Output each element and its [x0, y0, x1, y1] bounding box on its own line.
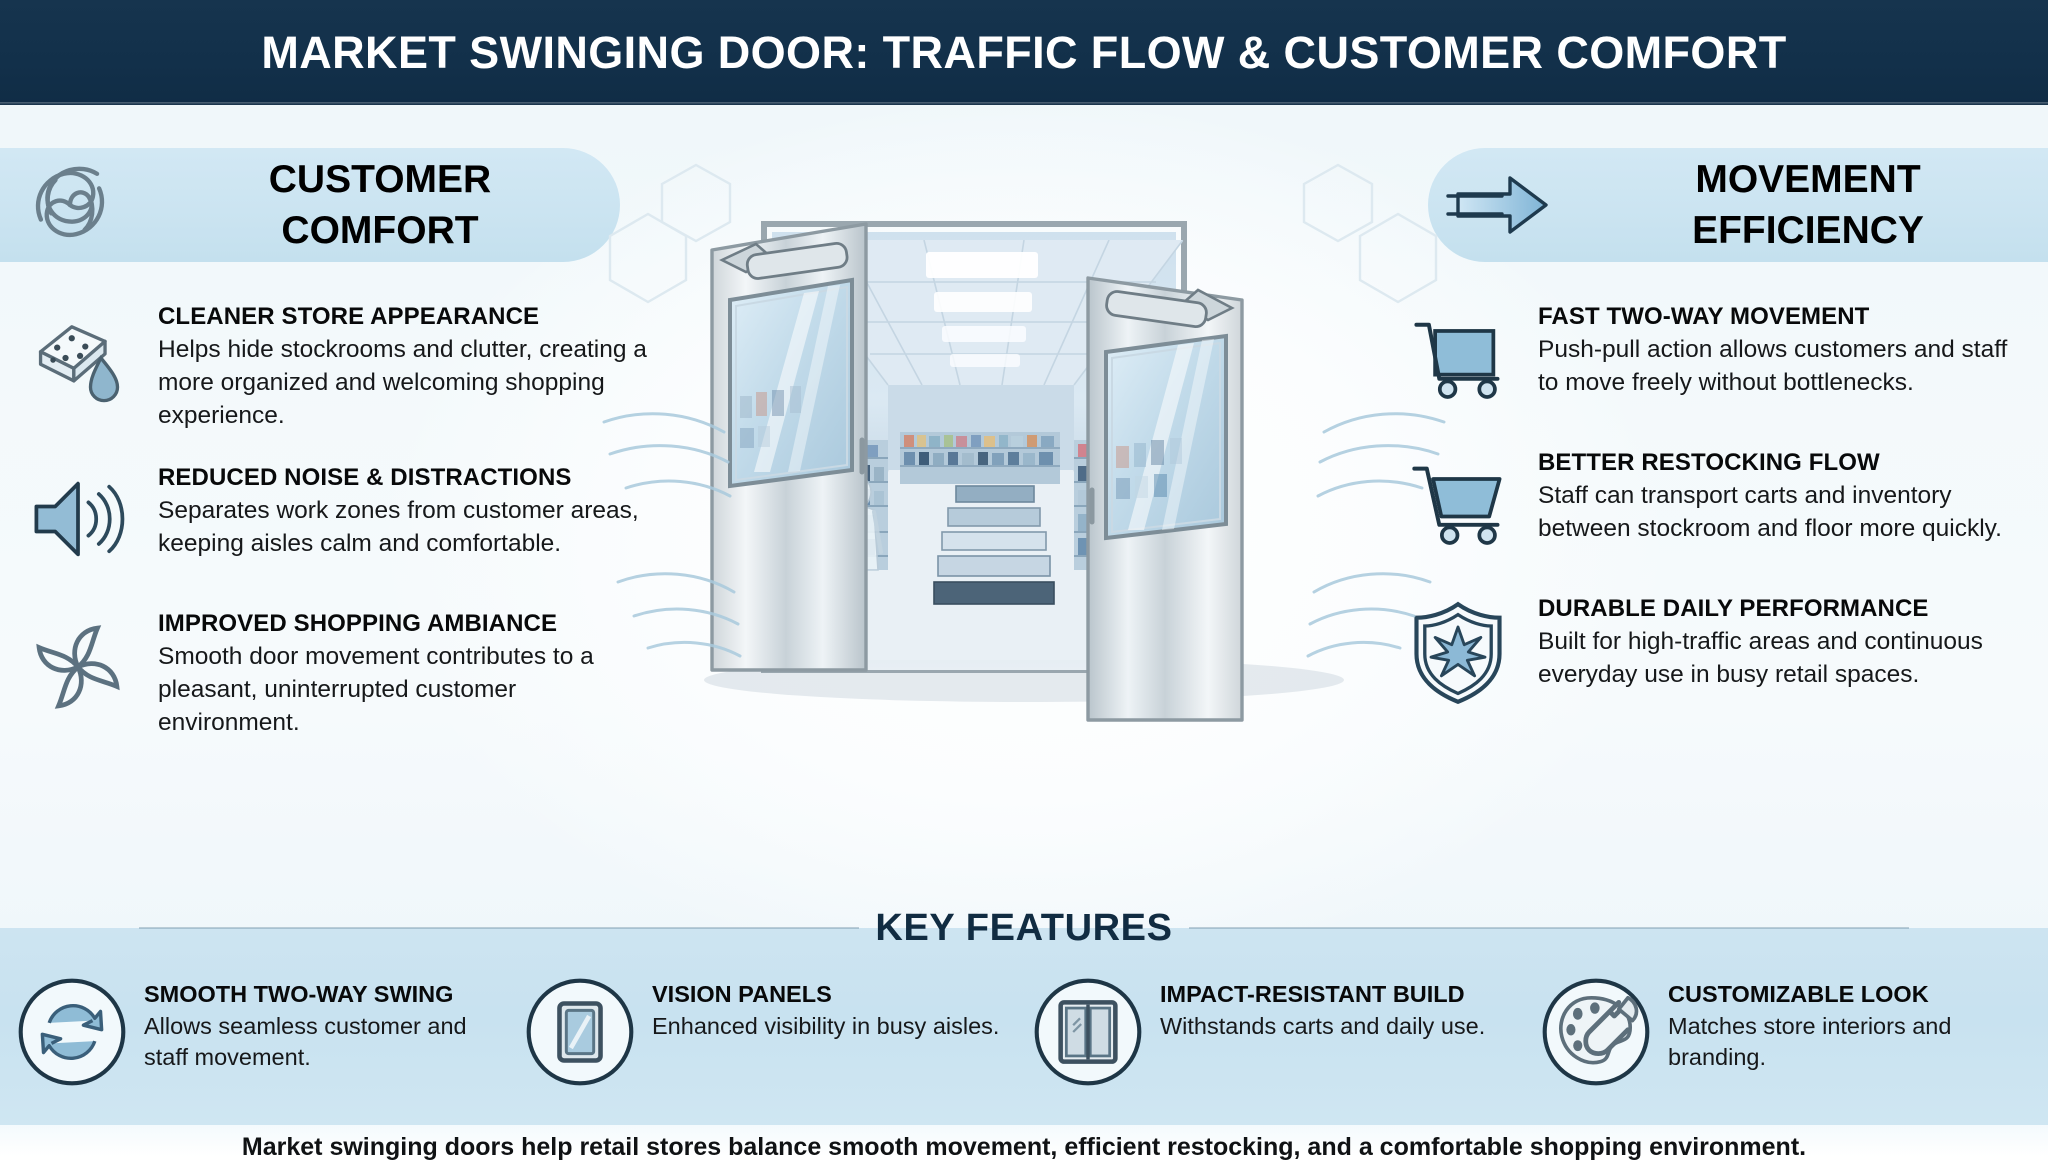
right-heading-line-2: EFFICIENCY [1568, 205, 2048, 256]
feature-title: REDUCED NOISE & DISTRACTIONS [158, 463, 654, 492]
key-feature-customizable-look: CUSTOMIZABLE LOOK Matches store interior… [1532, 964, 2040, 1090]
sponge-droplet-icon [14, 300, 142, 418]
speaker-sound-waves-icon [14, 461, 142, 579]
right-column-heading: MOVEMENT EFFICIENCY [1568, 154, 2048, 257]
feature-description: Staff can transport carts and inventory … [1538, 480, 2034, 546]
key-feature-title: VISION PANELS [652, 980, 1018, 1009]
feature-description: Helps hide stockrooms and clutter, creat… [158, 334, 654, 432]
key-feature-description: Withstands carts and daily use. [1160, 1011, 1526, 1042]
two-way-refresh-arrows-icon [14, 974, 130, 1090]
feature-title: CLEANER STORE APPEARANCE [158, 302, 654, 331]
feature-description: Smooth door movement contributes to a pl… [158, 641, 654, 739]
feature-durable-daily-performance: DURABLE DAILY PERFORMANCE Built for high… [1394, 592, 2034, 710]
feature-title: IMPROVED SHOPPING AMBIANCE [158, 609, 654, 638]
key-feature-description: Enhanced visibility in busy aisles. [652, 1011, 1018, 1042]
feature-description: Built for high-traffic areas and continu… [1538, 626, 2034, 692]
right-column-header-pill: MOVEMENT EFFICIENCY [1428, 148, 2048, 262]
feature-better-restocking-flow: BETTER RESTOCKING FLOW Staff can transpo… [1394, 446, 2034, 564]
feature-improved-shopping-ambiance: IMPROVED SHOPPING AMBIANCE Smooth door m… [14, 607, 654, 740]
vision-panel-window-icon [522, 974, 638, 1090]
left-column-heading: CUSTOMER COMFORT [140, 154, 620, 257]
swirl-spiral-icon [0, 153, 140, 257]
right-feature-column: FAST TWO-WAY MOVEMENT Push-pull action a… [1394, 300, 2034, 738]
key-feature-smooth-two-way-swing: SMOOTH TWO-WAY SWING Allows seamless cus… [8, 964, 516, 1090]
title-bar: MARKET SWINGING DOOR: TRAFFIC FLOW & CUS… [0, 0, 2048, 105]
feature-cleaner-store-appearance: CLEANER STORE APPEARANCE Helps hide stoc… [14, 300, 654, 433]
market-swinging-door-illustration [604, 140, 1444, 800]
fan-swirl-icon [14, 607, 142, 725]
feature-description: Separates work zones from customer areas… [158, 495, 654, 561]
double-door-panel-icon [1030, 974, 1146, 1090]
key-feature-impact-resistant-build: IMPACT-RESISTANT BUILD Withstands carts … [1024, 964, 1532, 1090]
left-column-header-pill: CUSTOMER COMFORT [0, 148, 620, 262]
right-arrow-icon [1428, 166, 1568, 244]
right-heading-line-1: MOVEMENT [1568, 154, 2048, 205]
palette-wrench-icon [1538, 974, 1654, 1090]
key-feature-vision-panels: VISION PANELS Enhanced visibility in bus… [516, 964, 1024, 1090]
key-feature-title: CUSTOMIZABLE LOOK [1668, 980, 2034, 1009]
infographic-page: MARKET SWINGING DOOR: TRAFFIC FLOW & CUS… [0, 0, 2048, 1170]
feature-title: DURABLE DAILY PERFORMANCE [1538, 594, 2034, 623]
feature-reduced-noise-distractions: REDUCED NOISE & DISTRACTIONS Separates w… [14, 461, 654, 579]
key-feature-description: Allows seamless customer and staff movem… [144, 1011, 510, 1073]
left-heading-line-2: COMFORT [140, 205, 620, 256]
footer-summary-text: Market swinging doors help retail stores… [242, 1133, 1806, 1162]
feature-title: FAST TWO-WAY MOVEMENT [1538, 302, 2034, 331]
feature-description: Push-pull action allows customers and st… [1538, 334, 2034, 400]
left-feature-column: CLEANER STORE APPEARANCE Helps hide stoc… [14, 300, 654, 768]
footer-bar: Market swinging doors help retail stores… [0, 1125, 2048, 1170]
page-title: MARKET SWINGING DOOR: TRAFFIC FLOW & CUS… [261, 27, 1786, 79]
key-feature-description: Matches store interiors and branding. [1668, 1011, 2034, 1073]
key-features-band: SMOOTH TWO-WAY SWING Allows seamless cus… [0, 928, 2048, 1125]
feature-title: BETTER RESTOCKING FLOW [1538, 448, 2034, 477]
key-feature-title: SMOOTH TWO-WAY SWING [144, 980, 510, 1009]
key-feature-title: IMPACT-RESISTANT BUILD [1160, 980, 1526, 1009]
feature-fast-two-way-movement: FAST TWO-WAY MOVEMENT Push-pull action a… [1394, 300, 2034, 418]
left-heading-line-1: CUSTOMER [140, 154, 620, 205]
